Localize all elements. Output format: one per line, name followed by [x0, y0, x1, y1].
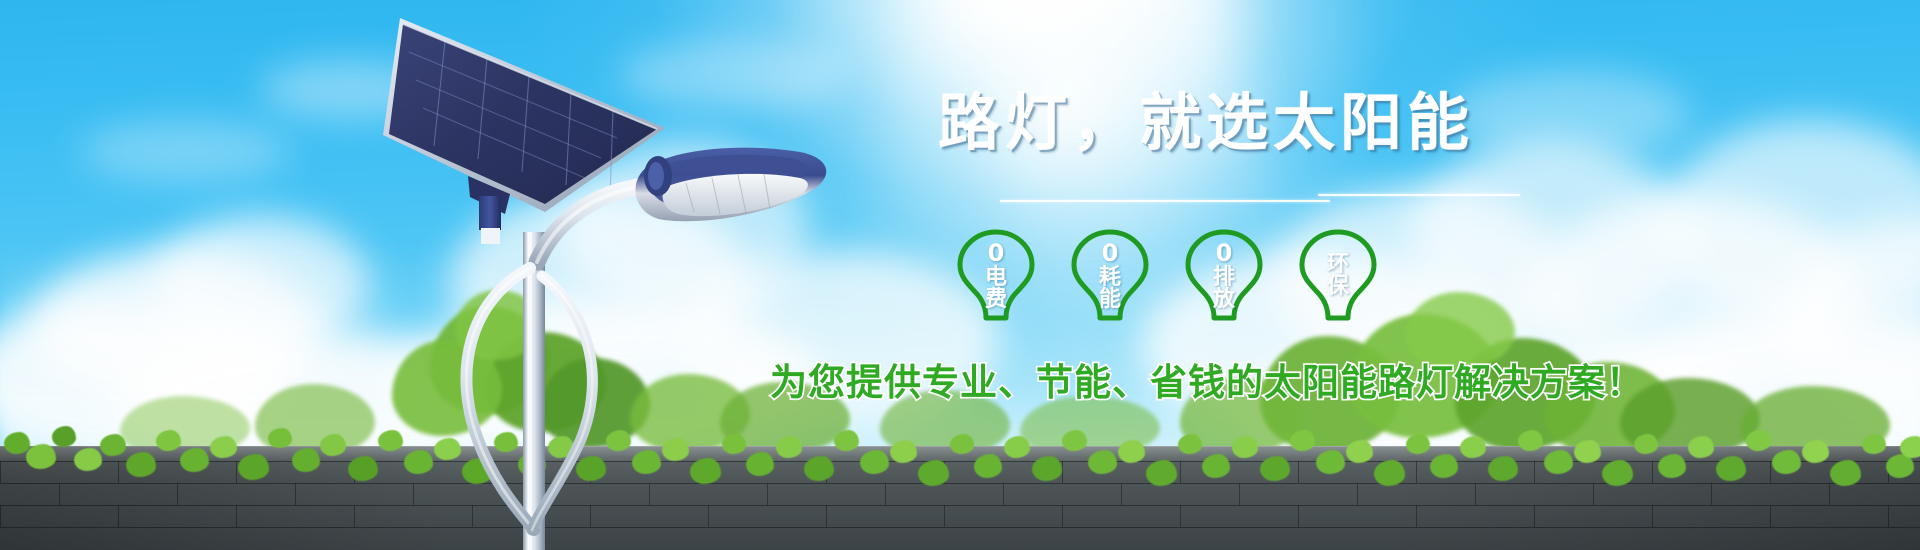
badge-number: 0	[985, 241, 1007, 266]
badge-number: 0	[1213, 241, 1235, 266]
feature-badge-0paifang: 0 排 放	[1180, 228, 1268, 324]
title-divider	[1000, 194, 1520, 204]
tagline: 为您提供专业、节能、省钱的太阳能路灯解决方案！	[770, 352, 1644, 406]
solar-street-light-banner: 路灯，就选太阳能 0 电 费 0 耗 能	[0, 0, 1920, 550]
feature-badge-0haoneng: 0 耗 能	[1066, 228, 1154, 324]
badge-label-line2: 能	[1099, 289, 1121, 311]
badge-label-line1: 排	[1213, 267, 1235, 289]
badge-label-line2: 保	[1327, 276, 1349, 298]
badge-label-line1: 耗	[1099, 267, 1121, 289]
badge-label-line2: 费	[985, 289, 1007, 311]
feature-badge-0dianfei: 0 电 费	[952, 228, 1040, 324]
feature-badge-huanbao: 环 保	[1294, 228, 1382, 324]
badge-label-line1: 电	[985, 267, 1007, 289]
brick-wall	[0, 446, 1920, 550]
badge-number: 0	[1099, 241, 1121, 266]
badge-label-line1: 环	[1327, 254, 1349, 276]
feature-badge-list: 0 电 费 0 耗 能 0 排 放	[952, 228, 1382, 324]
page-title: 路灯，就选太阳能	[938, 92, 1474, 154]
badge-label-line2: 放	[1213, 289, 1235, 311]
